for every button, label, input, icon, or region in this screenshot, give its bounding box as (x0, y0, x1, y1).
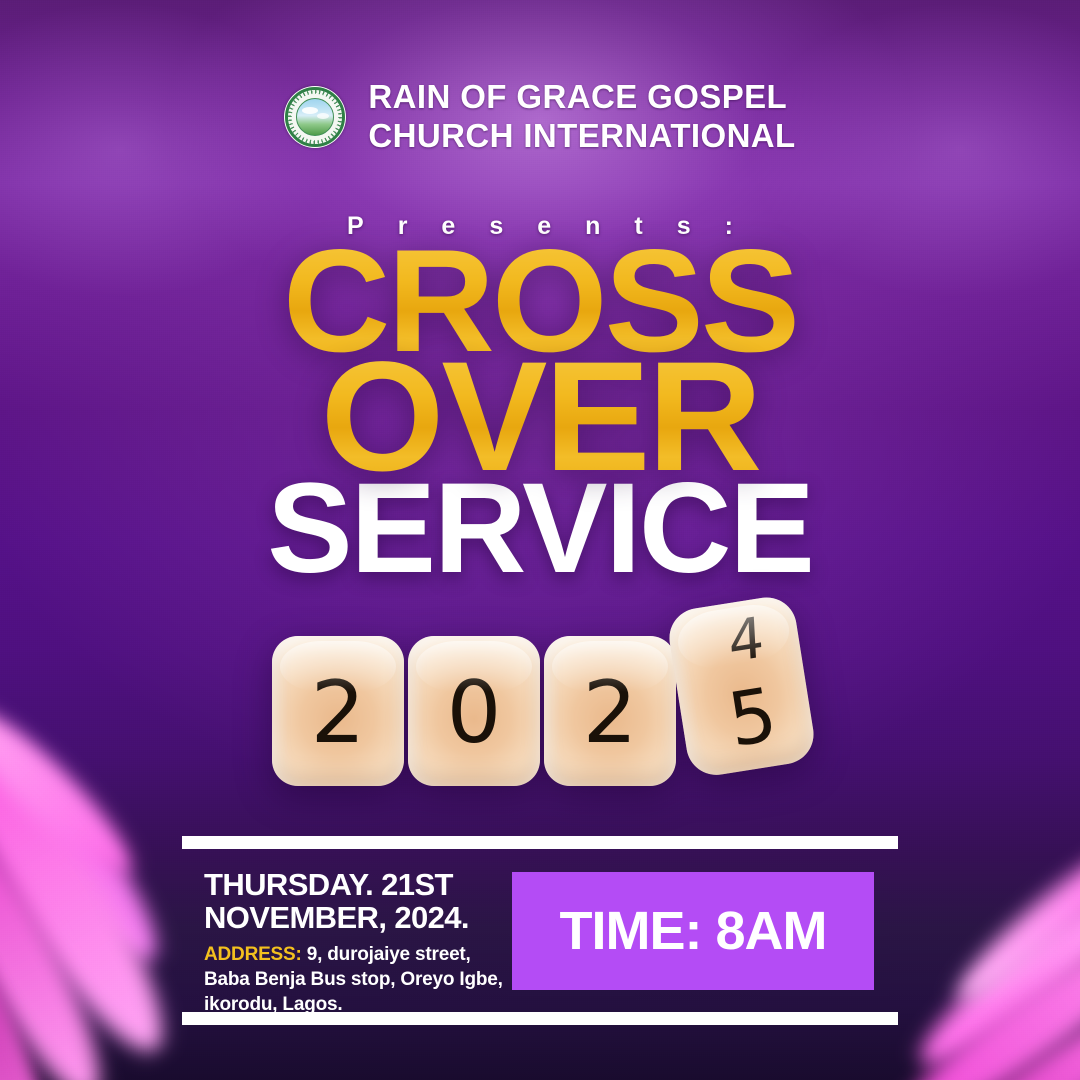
year-block-3: 2 (544, 636, 676, 786)
event-date: THURSDAY. 21ST NOVEMBER, 2024. (204, 868, 514, 934)
address-block: ADDRESS: 9, durojaiye street, Baba Benja… (204, 943, 514, 1017)
event-title: CROSS OVER SERVICE (0, 238, 1080, 584)
year-block-2-face: 0 (447, 670, 502, 756)
year-block-4-front-face: 5 (724, 678, 782, 758)
time-badge: TIME: 8AM (512, 872, 874, 990)
church-name-line1: RAIN OF GRACE GOSPEL (368, 78, 795, 117)
year-blocks: 2 0 2 4 5 (0, 618, 1080, 786)
year-block-2: 0 (408, 636, 540, 786)
title-line-over: OVER (0, 350, 1080, 484)
logo-globe-graphic (296, 98, 334, 136)
church-name: RAIN OF GRACE GOSPEL CHURCH INTERNATIONA… (368, 78, 795, 156)
year-block-1: 2 (272, 636, 404, 786)
date-block: THURSDAY. 21ST NOVEMBER, 2024. ADDRESS: … (204, 868, 514, 1017)
church-globe-logo-icon (284, 86, 346, 148)
crossover-service-flyer: RAIN OF GRACE GOSPEL CHURCH INTERNATIONA… (0, 0, 1080, 1080)
year-block-4-rolling: 4 5 (665, 593, 818, 779)
header: RAIN OF GRACE GOSPEL CHURCH INTERNATIONA… (0, 78, 1080, 156)
divider-top (182, 836, 898, 849)
pink-brush-stroke-right (870, 900, 1080, 1080)
year-block-3-face: 2 (583, 670, 638, 756)
year-block-4-top-face: 4 (727, 610, 765, 672)
church-name-line2: CHURCH INTERNATIONAL (368, 117, 795, 156)
year-block-1-face: 2 (311, 670, 366, 756)
time-text: TIME: 8AM (560, 900, 827, 962)
address-label: ADDRESS: (204, 944, 302, 965)
